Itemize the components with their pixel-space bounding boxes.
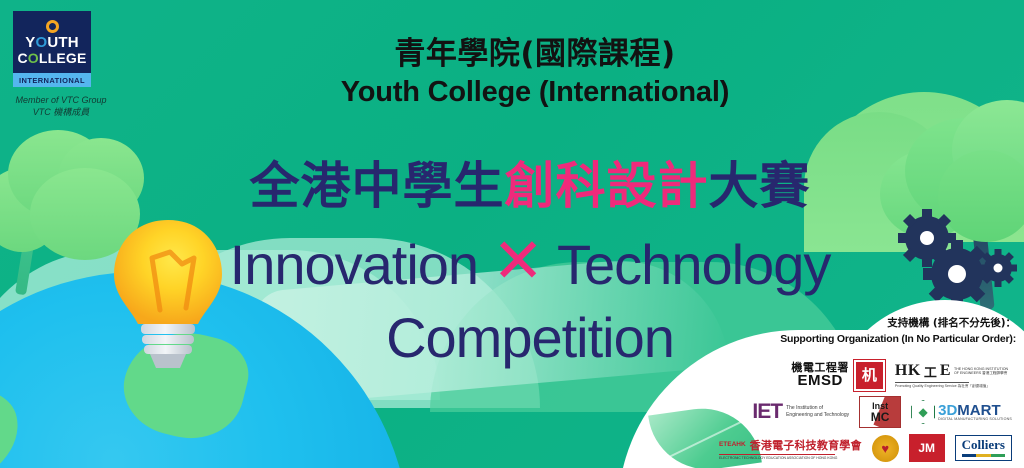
logo-international-text: INTERNATIONAL bbox=[19, 76, 85, 85]
event-title-zh-part1: 全港中學生 bbox=[250, 157, 505, 215]
event-title-zh: 全港中學生創科設計大賽 bbox=[180, 146, 880, 218]
instmc-line2: MC bbox=[871, 411, 890, 423]
sponsor-logo-row-1: 機電工程署 EMSD 机 HK 工 E THE HONG KONG INSTIT… bbox=[760, 358, 1012, 392]
eteahk-abbr: ETEAHK bbox=[719, 441, 746, 448]
supporting-organization-block: 支持機構 (排名不分先後)： Supporting Organization (… bbox=[704, 316, 1016, 348]
divider bbox=[719, 454, 835, 455]
sponsor-logo-colliers: Colliers bbox=[955, 435, 1012, 460]
hkie-abbr2: E bbox=[940, 362, 951, 380]
sponsor-logo-instmc: Inst MC bbox=[859, 396, 901, 428]
supporting-heading-zh: 支持機構 (排名不分先後)： bbox=[704, 316, 1016, 332]
hkie-tagline: Promoting Quality Engineering Service 為社… bbox=[895, 384, 990, 389]
event-title-technology: Technology bbox=[557, 232, 830, 297]
event-title-en-line1: Innovation ✕ Technology bbox=[150, 232, 910, 297]
event-title-zh-part2: 創科設計 bbox=[505, 157, 709, 215]
event-poster-banner: YOUTH COLLEGE INTERNATIONAL Member of VT… bbox=[0, 0, 1024, 468]
sponsor-logo-row-3: ETEAHK 香港電子科技教育學會 ELECTRONIC TECHNOLOGY … bbox=[712, 432, 1012, 464]
sponsor-logo-row-2: IET The Institution of Engineering and T… bbox=[712, 396, 1012, 428]
colliers-label: Colliers bbox=[962, 438, 1005, 452]
supporting-heading-en: Supporting Organization (In No Particula… bbox=[704, 332, 1016, 348]
sponsor-logo-red-org: JM bbox=[909, 434, 945, 462]
hkie-fullname: THE HONG KONG INSTITUTION OF ENGINEERS 香… bbox=[954, 367, 1012, 376]
sponsor-logo-iet: IET The Institution of Engineering and T… bbox=[752, 400, 849, 424]
gears-icon bbox=[895, 196, 1024, 316]
eteahk-fullname: ELECTRONIC TECHNOLOGY EDUCATION ASSOCIAT… bbox=[719, 456, 837, 460]
vtc-member-zh: VTC 機構成員 bbox=[6, 106, 116, 118]
sponsor-logo-3dmart: ◆ 3DMART DIGITAL MANUFACTURING SOLUTIONS bbox=[911, 400, 1012, 424]
cube-icon: ◆ bbox=[911, 400, 935, 424]
sponsor-logo-eteahk: ETEAHK 香港電子科技教育學會 ELECTRONIC TECHNOLOGY … bbox=[719, 437, 862, 460]
hkie-abbr: HK bbox=[895, 362, 921, 380]
iet-abbr: IET bbox=[752, 400, 782, 424]
cross-icon: ✕ bbox=[492, 231, 543, 293]
sponsor-logo-hkie: HK 工 E THE HONG KONG INSTITUTION OF ENGI… bbox=[895, 362, 1012, 389]
colliers-color-bar bbox=[962, 454, 1005, 457]
iet-line2: Engineering and Technology bbox=[786, 412, 849, 418]
event-title-innovation: Innovation bbox=[230, 232, 478, 297]
mart-name: 3DMART bbox=[938, 403, 1012, 418]
hkie-cn-char: 工 bbox=[924, 362, 937, 381]
red-org-mark: JM bbox=[918, 441, 935, 455]
institution-name-en: Youth College (International) bbox=[300, 76, 770, 109]
logo-international-bar: INTERNATIONAL bbox=[13, 73, 91, 87]
mart-tagline: DIGITAL MANUFACTURING SOLUTIONS bbox=[938, 418, 1012, 422]
heart-icon: ♥ bbox=[881, 442, 889, 455]
sponsor-logo-emsd: 機電工程署 EMSD 机 bbox=[791, 360, 885, 391]
vtc-member-note: Member of VTC Group VTC 機構成員 bbox=[6, 94, 116, 118]
youth-college-logo: YOUTH COLLEGE bbox=[13, 11, 91, 73]
institution-name-zh: 青年學院(國際課程) bbox=[300, 28, 770, 73]
emsd-name-en: EMSD bbox=[791, 373, 849, 388]
logo-youth-text: YOUTH bbox=[25, 35, 79, 50]
logo-college-text: COLLEGE bbox=[17, 51, 86, 65]
eteahk-name-zh: 香港電子科技教育學會 bbox=[750, 437, 862, 453]
vtc-member-en: Member of VTC Group bbox=[6, 94, 116, 106]
iet-fullname: The Institution of Engineering and Techn… bbox=[786, 405, 849, 419]
iet-line1: The Institution of bbox=[786, 405, 823, 411]
ring-icon bbox=[46, 20, 59, 33]
emsd-mark-icon: 机 bbox=[854, 360, 885, 391]
event-title-zh-part3: 大賽 bbox=[709, 157, 811, 215]
sponsor-logo-gold-emblem: ♥ bbox=[872, 435, 899, 462]
divider bbox=[895, 382, 969, 383]
